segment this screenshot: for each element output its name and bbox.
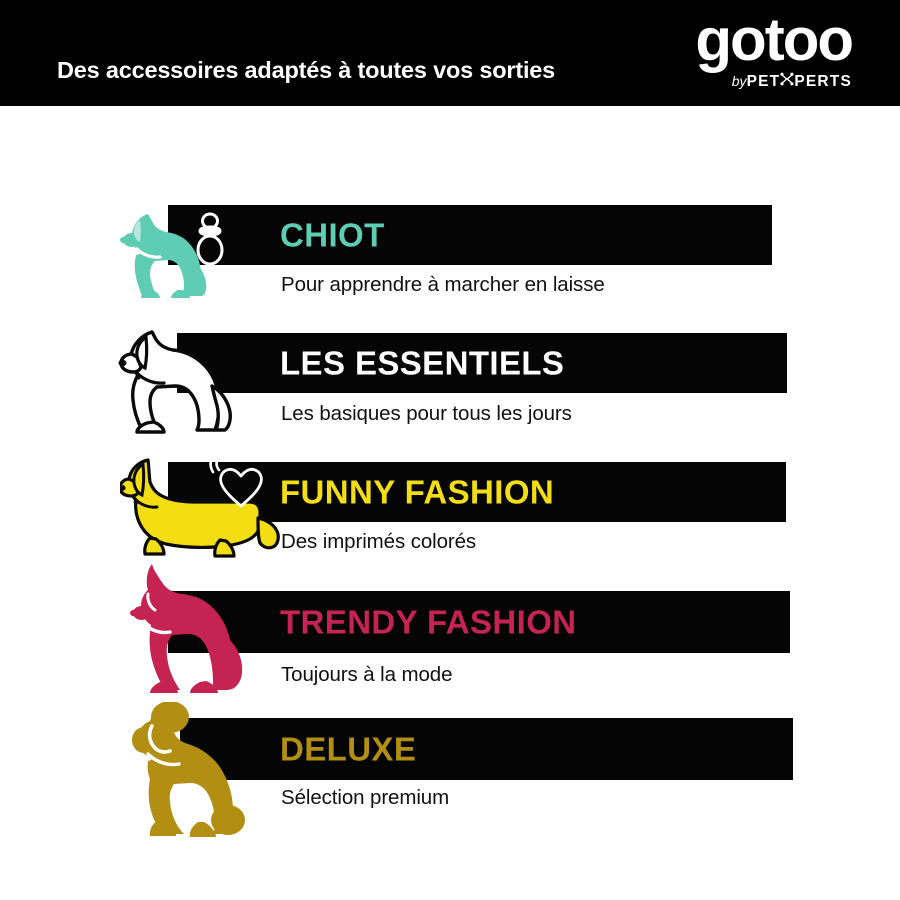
category-bar: LES ESSENTIELS [177, 333, 787, 393]
header-bar: Des accessoires adaptés à toutes vos sor… [0, 0, 900, 106]
category-title: DELUXE [280, 733, 416, 766]
heart-icon [207, 458, 265, 510]
logo-brand-after: PERTS [794, 73, 852, 90]
logo-brand-before: PET [747, 73, 781, 90]
category-subtitle: Les basiques pour tous les jours [281, 402, 572, 426]
category-subtitle: Toujours à la mode [281, 663, 452, 687]
sitting-great-dane-silhouette-icon [122, 562, 257, 694]
sitting-labrador-outline-icon [112, 320, 252, 435]
logo-tagline: byPET PERTS [662, 72, 852, 90]
category-bar: TRENDY FASHION [168, 591, 790, 653]
category-list: CHIOT [0, 106, 900, 900]
logo-bone-x-icon [780, 72, 794, 90]
logo-wordmark: gotoo [662, 10, 852, 70]
logo-by-text: by [732, 73, 747, 89]
brand-logo: gotoo byPET PERTS [662, 16, 852, 92]
sitting-poodle-silhouette-icon [128, 702, 268, 837]
category-title: LES ESSENTIELS [280, 347, 564, 380]
category-title: TRENDY FASHION [280, 606, 577, 639]
category-row-deluxe[interactable]: DELUXE Sélection premium [0, 106, 900, 235]
category-subtitle: Pour apprendre à marcher en laisse [281, 273, 605, 297]
category-subtitle: Sélection premium [281, 786, 449, 810]
category-title: FUNNY FASHION [280, 476, 554, 509]
page-title: Des accessoires adaptés à toutes vos sor… [57, 57, 555, 84]
category-bar: DELUXE [180, 718, 793, 780]
category-subtitle: Des imprimés colorés [281, 530, 476, 554]
